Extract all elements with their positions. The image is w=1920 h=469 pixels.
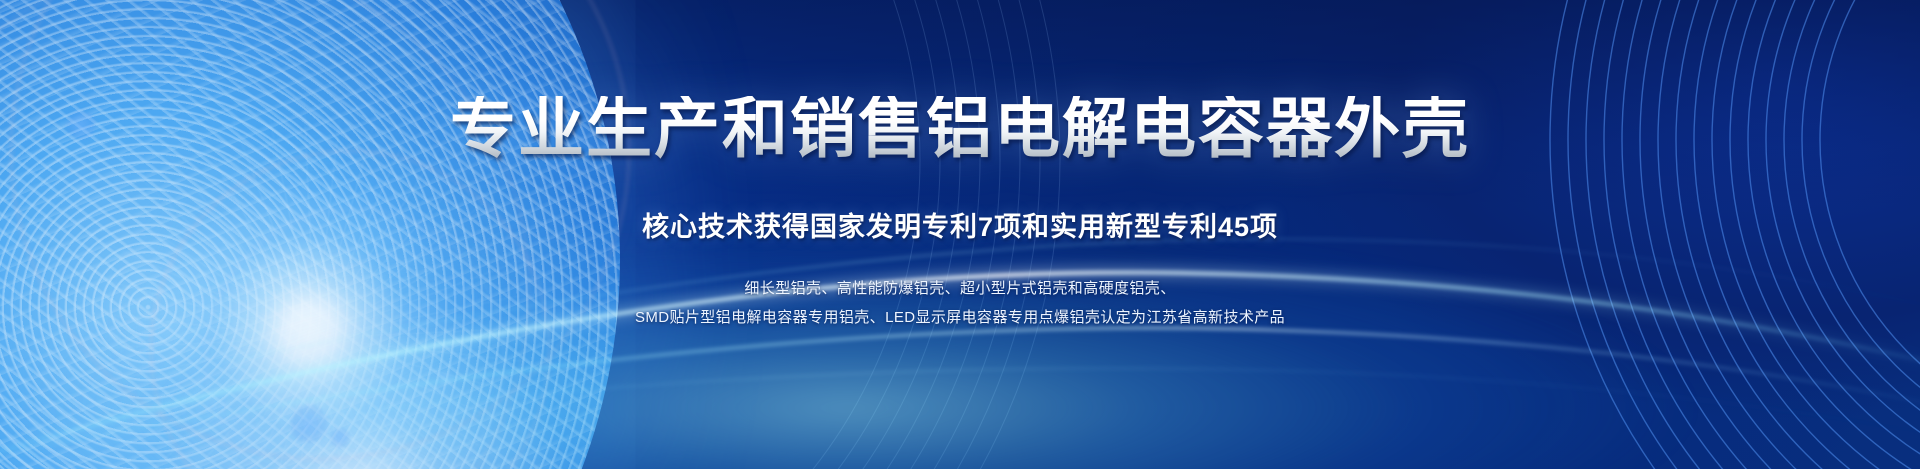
banner-detail-text: 细长型铝壳、高性能防爆铝壳、超小型片式铝壳和高硬度铝壳、 SMD贴片型铝电解电容… — [635, 274, 1285, 333]
detail-line: SMD贴片型铝电解电容器专用铝壳、LED显示屏电容器专用点爆铝壳认定为江苏省高新… — [635, 303, 1285, 332]
banner-content: 专业生产和销售铝电解电容器外壳 核心技术获得国家发明专利7项和实用新型专利45项… — [0, 0, 1920, 469]
page-title: 专业生产和销售铝电解电容器外壳 — [450, 96, 1470, 165]
banner-subtitle: 核心技术获得国家发明专利7项和实用新型专利45项 — [642, 205, 1278, 244]
hero-banner: 专业生产和销售铝电解电容器外壳 核心技术获得国家发明专利7项和实用新型专利45项… — [0, 0, 1920, 469]
detail-line: 细长型铝壳、高性能防爆铝壳、超小型片式铝壳和高硬度铝壳、 — [635, 274, 1285, 303]
